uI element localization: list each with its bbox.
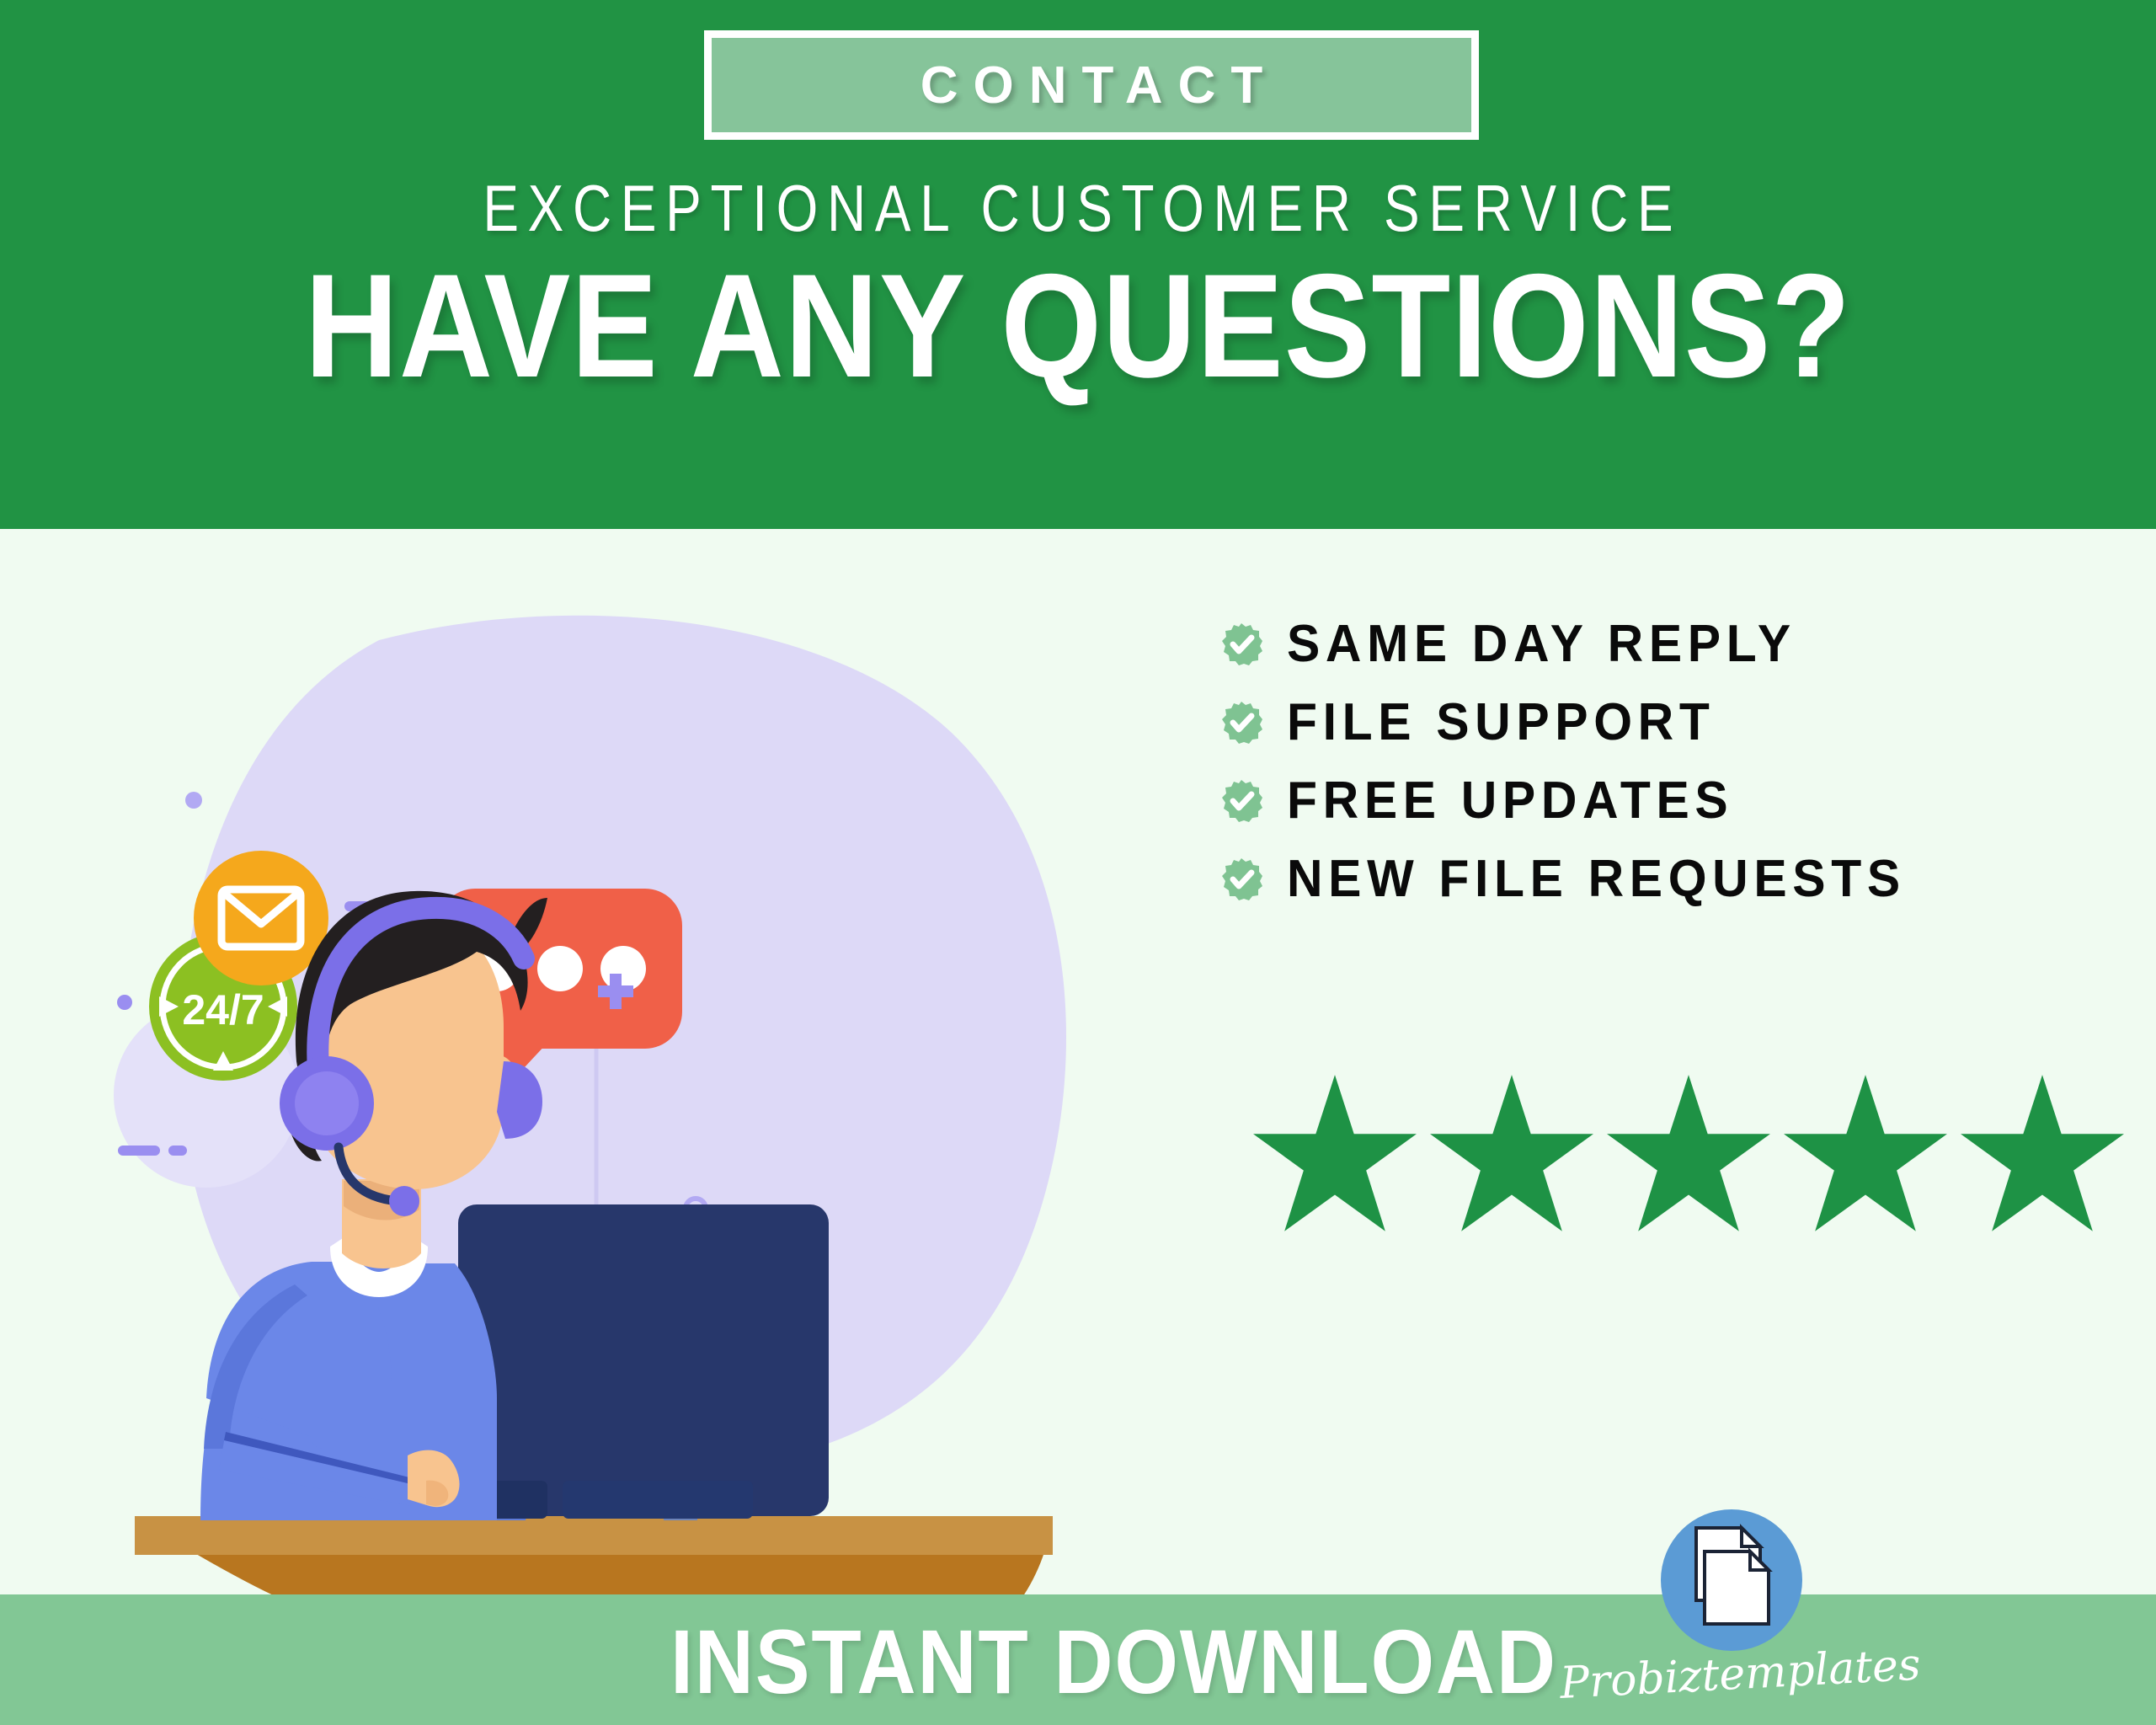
- check-badge-icon: [1219, 779, 1263, 823]
- star-icon: [1423, 1071, 1600, 1236]
- star-icon: [1777, 1071, 1954, 1236]
- feature-label: FILE SUPPORT: [1287, 692, 1716, 752]
- marketing-banner: CONTACT EXCEPTIONAL CUSTOMER SERVICE HAV…: [0, 0, 2156, 1725]
- page-title: HAVE ANY QUESTIONS?: [130, 253, 2027, 400]
- list-item: SAME DAY REPLY: [1219, 605, 2095, 683]
- category-badge-label: CONTACT: [905, 56, 1278, 115]
- support-illustration: 24/7: [101, 556, 1187, 1617]
- feature-label: NEW FILE REQUESTS: [1287, 849, 1906, 909]
- list-item: FREE UPDATES: [1219, 761, 2095, 840]
- instant-download-label: INSTANT DOWNLOAD: [670, 1609, 1519, 1714]
- list-item: FILE SUPPORT: [1219, 683, 2095, 761]
- star-icon: [1954, 1071, 2131, 1236]
- check-badge-icon: [1219, 622, 1263, 666]
- header-band: CONTACT EXCEPTIONAL CUSTOMER SERVICE HAV…: [0, 0, 2156, 529]
- feature-label: SAME DAY REPLY: [1287, 614, 1796, 674]
- check-badge-icon: [1219, 857, 1263, 901]
- clock-badge-label: 24/7: [182, 986, 264, 1033]
- feature-list: SAME DAY REPLY FILE SUPPORT FREE UPDATES: [1219, 605, 2095, 918]
- check-badge-icon: [1219, 701, 1263, 745]
- list-item: NEW FILE REQUESTS: [1219, 840, 2095, 918]
- header-subtitle: EXCEPTIONAL CUSTOMER SERVICE: [194, 170, 1961, 247]
- feature-label: FREE UPDATES: [1287, 771, 1733, 830]
- envelope-icon: [194, 851, 328, 985]
- brand-logo: [1661, 1509, 1802, 1651]
- star-icon: [1600, 1071, 1777, 1236]
- documents-stack-icon: [1661, 1509, 1802, 1651]
- star-rating: [1246, 1071, 2131, 1236]
- category-badge: CONTACT: [704, 30, 1479, 140]
- star-icon: [1246, 1071, 1423, 1236]
